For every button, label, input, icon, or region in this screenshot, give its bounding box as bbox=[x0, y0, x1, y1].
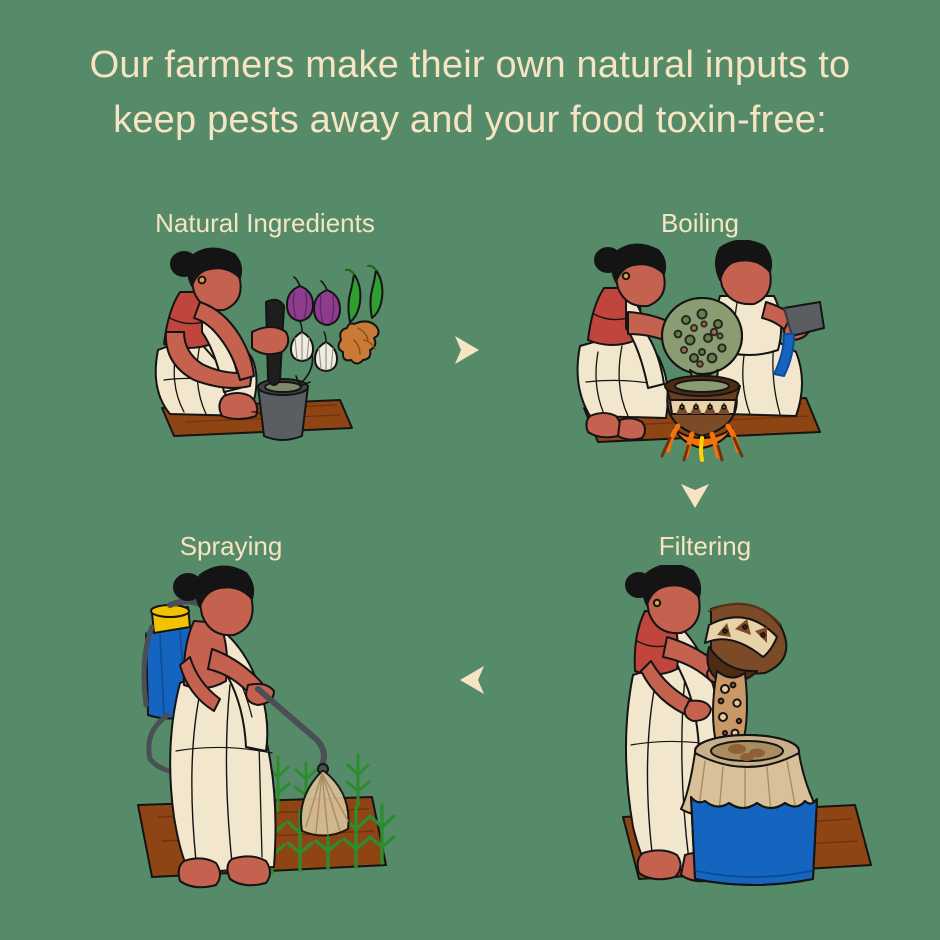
page-title-line-1: Our farmers make their own natural input… bbox=[60, 38, 880, 93]
page-title-line-2: keep pests away and your food toxin-free… bbox=[60, 93, 880, 148]
arrow-down-icon bbox=[673, 472, 717, 516]
illustration-spraying bbox=[110, 565, 400, 905]
panel-label-filtering: Filtering bbox=[659, 531, 751, 562]
ingredient-garlic bbox=[291, 322, 337, 371]
panel-label-natural-ingredients: Natural Ingredients bbox=[155, 208, 375, 239]
ingredient-ginger bbox=[338, 321, 378, 363]
arrow-right-icon bbox=[443, 328, 487, 372]
ingredient-green-chili bbox=[346, 266, 382, 322]
panel-label-boiling: Boiling bbox=[661, 208, 739, 239]
arrow-left-icon bbox=[452, 658, 496, 702]
page-title: Our farmers make their own natural input… bbox=[0, 38, 940, 148]
illustration-natural-ingredients bbox=[140, 240, 390, 455]
illustration-boiling bbox=[570, 240, 835, 465]
panel-label-spraying: Spraying bbox=[180, 531, 283, 562]
illustration-filtering bbox=[605, 565, 885, 895]
ingredient-onion bbox=[287, 277, 340, 325]
infographic-canvas: Our farmers make their own natural input… bbox=[0, 0, 940, 940]
